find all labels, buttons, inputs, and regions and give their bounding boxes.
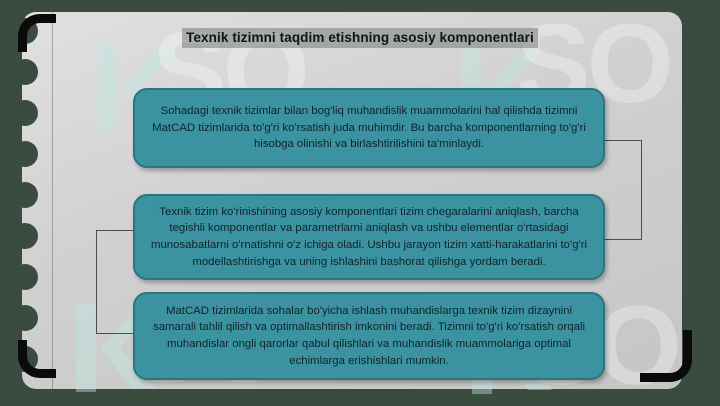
content-box-2-text: Texnik tizim ko'rinishining asosiy kompo… <box>135 198 603 276</box>
content-box-1: Sohadagi texnik tizimlar bilan bog'liq m… <box>133 88 605 168</box>
corner-bracket-bottom-right <box>640 330 692 382</box>
connector-bracket-right <box>604 140 642 240</box>
binding-notch <box>12 100 38 126</box>
page-title-text: Texnik tizimni taqdim etishning asosiy k… <box>182 28 538 48</box>
content-box-1-text: Sohadagi texnik tizimlar bilan bog'liq m… <box>135 97 603 159</box>
content-box-2: Texnik tizim ko'rinishining asosiy kompo… <box>133 194 605 280</box>
binding-notch <box>12 59 38 85</box>
content-box-3: MatCAD tizimlarida sohalar bo'yicha ishl… <box>133 292 605 380</box>
notebook-binding <box>12 18 38 382</box>
connector-bracket-left <box>96 230 134 334</box>
binding-notch <box>12 223 38 249</box>
binding-notch <box>12 141 38 167</box>
binding-notch <box>12 305 38 331</box>
page-title: Texnik tizimni taqdim etishning asosiy k… <box>0 28 720 48</box>
binding-notch <box>12 182 38 208</box>
presentation-slide: SO SO SO SO <box>0 0 720 406</box>
content-box-3-text: MatCAD tizimlarida sohalar bo'yicha ishl… <box>135 297 603 375</box>
page-margin-rule <box>52 12 53 389</box>
binding-notch <box>12 264 38 290</box>
